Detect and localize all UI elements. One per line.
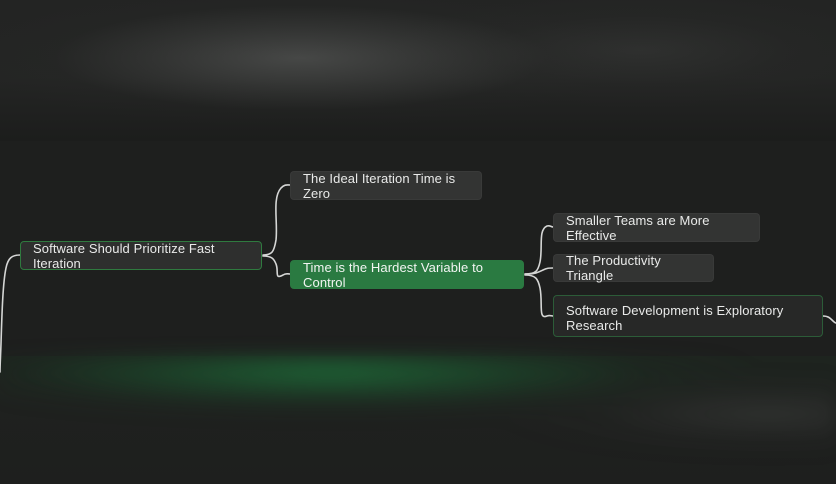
blurred-node-glow-bottom <box>0 356 836 484</box>
edge-time-to-smaller-teams <box>525 226 553 274</box>
node-label: Software Development is Exploratory Rese… <box>566 303 783 333</box>
node-time-is-the-hardest-variable-to-control[interactable]: Time is the Hardest Variable to Control <box>290 260 524 289</box>
edge-root-to-offscreen-bottom-left <box>0 255 20 372</box>
node-root-software-should-prioritize-fast-iteration[interactable]: Software Should Prioritize Fast Iteratio… <box>20 241 262 270</box>
node-the-productivity-triangle[interactable]: The Productivity Triangle <box>553 254 714 282</box>
edge-root-to-time-hardest-variable <box>263 256 290 276</box>
node-label: The Ideal Iteration Time is Zero <box>303 171 469 201</box>
node-label: Time is the Hardest Variable to Control <box>303 260 511 290</box>
mind-map-canvas[interactable]: Software Should Prioritize Fast Iteratio… <box>0 0 836 484</box>
node-label: Software Should Prioritize Fast Iteratio… <box>33 241 249 271</box>
node-label: The Productivity Triangle <box>566 253 701 283</box>
node-label: Smaller Teams are More Effective <box>566 213 747 243</box>
node-the-ideal-iteration-time-is-zero[interactable]: The Ideal Iteration Time is Zero <box>290 171 482 200</box>
blurred-node-glow-top <box>0 0 836 141</box>
edge-exploratory-to-offscreen-right <box>823 316 836 323</box>
node-smaller-teams-are-more-effective[interactable]: Smaller Teams are More Effective <box>553 213 760 242</box>
blurred-green-node-glow <box>0 356 836 484</box>
edge-root-to-ideal-iteration-time <box>263 185 290 255</box>
node-software-development-is-exploratory-research[interactable]: Software Development is Exploratory Rese… <box>553 295 823 337</box>
edge-time-to-exploratory-research <box>525 275 553 317</box>
edge-time-to-productivity-triangle <box>525 268 553 274</box>
